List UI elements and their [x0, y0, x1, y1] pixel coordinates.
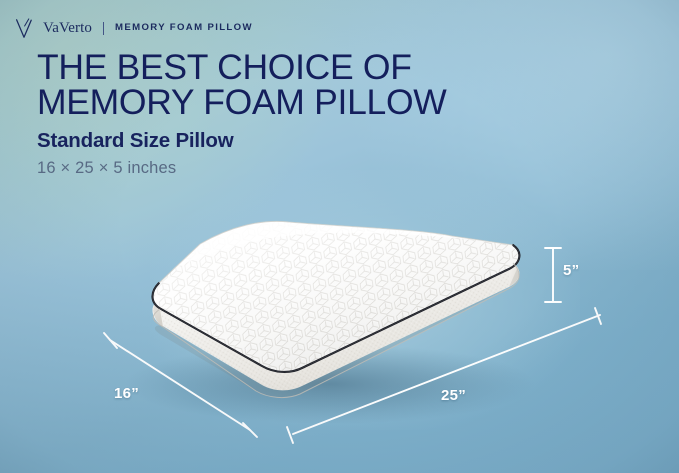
dimension-label-width: 16” — [114, 386, 139, 401]
brand-tagline: MEMORY FOAM PILLOW — [115, 23, 253, 33]
headline-line-1: THE BEST CHOICE OF — [37, 50, 447, 85]
dimension-label-length: 25” — [441, 388, 466, 403]
product-dimensions-text: 16 × 25 × 5 inches — [37, 160, 176, 177]
product-size-name: Standard Size Pillow — [37, 131, 234, 152]
brand-separator — [103, 22, 104, 35]
headline-line-2: MEMORY FOAM PILLOW — [37, 85, 447, 120]
product-banner: VaVerto MEMORY FOAM PILLOW THE BEST CHOI… — [0, 0, 679, 473]
brand-lockup: VaVerto MEMORY FOAM PILLOW — [15, 17, 253, 39]
vaverto-v-monogram-icon — [15, 18, 35, 39]
dimension-label-height: 5” — [563, 263, 579, 278]
headline: THE BEST CHOICE OF MEMORY FOAM PILLOW — [37, 50, 447, 120]
brand-name: VaVerto — [43, 21, 92, 36]
